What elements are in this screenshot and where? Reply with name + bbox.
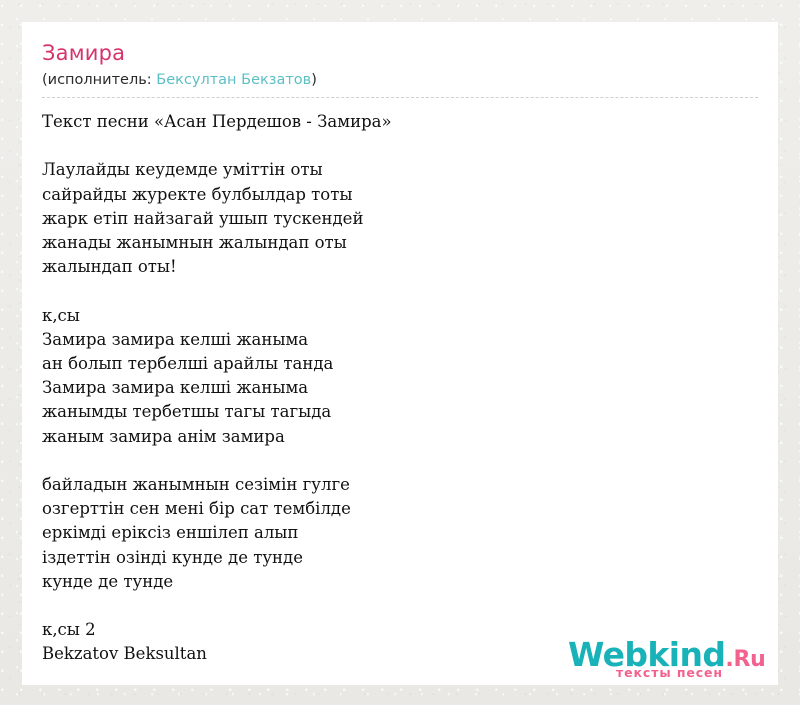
logo-tld-text: .Ru — [725, 647, 765, 672]
site-logo[interactable]: Webkind.Ru тексты песен — [552, 636, 778, 685]
artist-suffix-label: ) — [311, 72, 317, 88]
artist-prefix-label: (исполнитель: — [42, 72, 156, 88]
artist-link[interactable]: Бексултан Бекзатов — [156, 72, 311, 88]
lyrics-text: Текст песни «Асан Пердешов - Замира» Лау… — [42, 98, 758, 667]
lyrics-content-card: Замира (исполнитель: Бексултан Бекзатов)… — [22, 22, 778, 685]
page-title: Замира — [42, 40, 758, 66]
card-inner: Замира (исполнитель: Бексултан Бекзатов)… — [22, 22, 778, 667]
logo-tagline: тексты песен — [616, 666, 723, 680]
artist-line: (исполнитель: Бексултан Бекзатов) — [42, 70, 758, 98]
